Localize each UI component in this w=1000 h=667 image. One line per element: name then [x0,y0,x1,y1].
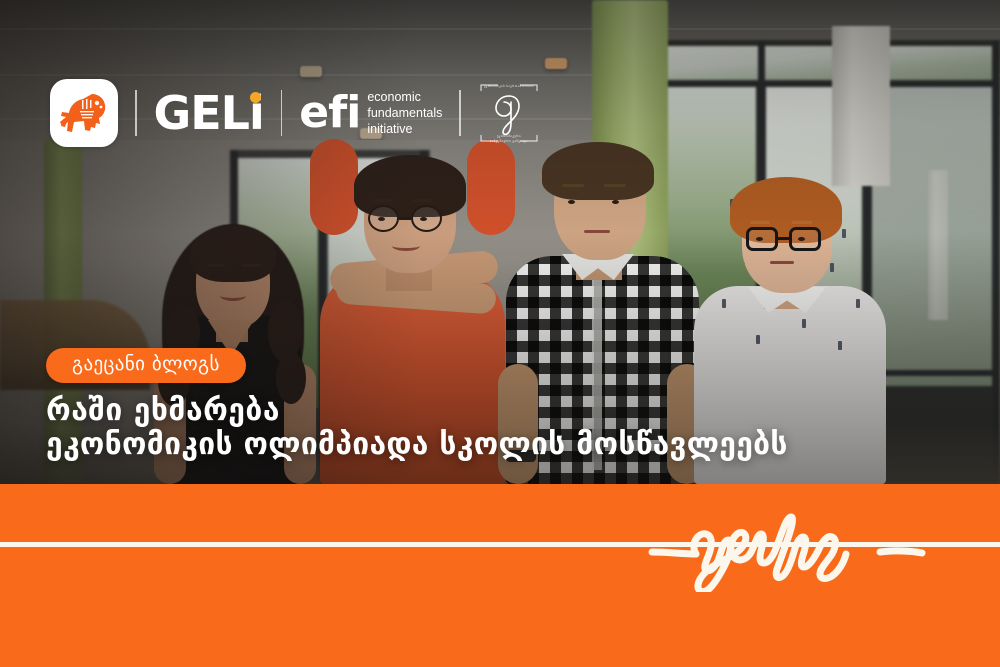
efi-tagline: economic fundamentals initiative [367,89,442,138]
geli-wordmark[interactable]: GELi [154,90,264,136]
logo-divider [459,90,461,136]
lion-mascot-icon[interactable] [50,79,118,147]
geli-text: GELi [154,90,264,136]
logo-divider [135,90,137,136]
headline-line-2: ეკონომიკის ოლიმპიადა სკოლის მოსწავლეებს [46,428,788,462]
efi-tagline-line: fundamentals [367,105,442,121]
headline-line-1: რაში ეხმარება [46,394,788,428]
headline: რაში ეხმარება ეკონომიკის ოლიმპიადა სკოლი… [46,394,788,461]
blog-cta-badge[interactable]: გაეცანი ბლოგს [46,348,246,383]
geli-dot-icon [250,92,261,103]
efi-wordmark: efi [299,91,360,135]
footer-bar [0,484,1000,667]
handwritten-signature-icon [622,492,952,592]
pantheon-monogram-icon[interactable]: ეკონომიკის საერთაშორისო ეკონომიკური სამე… [478,82,540,144]
pantheon-top-text: ეკონომიკის საერთაშორისო [478,84,540,88]
pantheon-bottom-line: სამეცნიერო განყოფი [478,139,540,143]
efi-tagline-line: initiative [367,121,442,137]
banner-canvas: GELi efi economic fundamentals initiativ… [0,0,1000,667]
logo-bar: GELi efi economic fundamentals initiativ… [50,78,540,148]
efi-logo[interactable]: efi economic fundamentals initiative [299,89,442,138]
pantheon-bottom-text: ეკონომიკური სამეცნიერო განყოფი [478,134,540,143]
logo-divider [281,90,283,136]
efi-tagline-line: economic [367,89,442,105]
